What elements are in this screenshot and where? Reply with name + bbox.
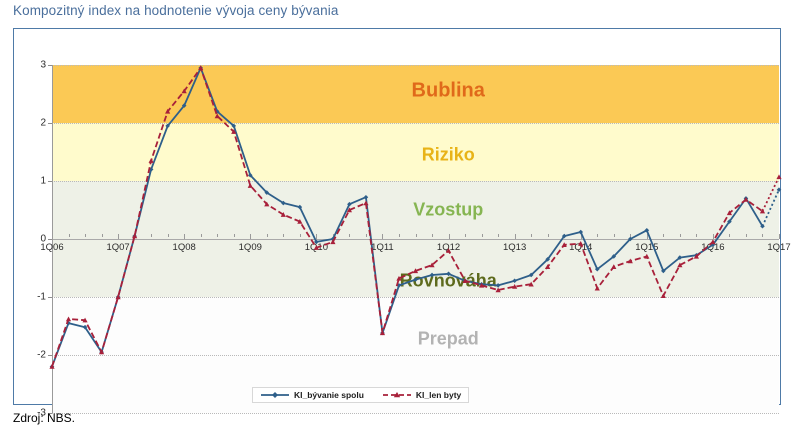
series-marker xyxy=(248,183,253,188)
series-marker xyxy=(446,248,451,253)
gridline--3 xyxy=(52,413,779,414)
legend-item-1[interactable]: KI_bývanie spolu xyxy=(260,390,364,400)
y-tick-label: 2 xyxy=(40,118,46,129)
y-tick-label: 3 xyxy=(40,60,46,71)
series-marker xyxy=(743,197,748,202)
series-marker xyxy=(149,158,154,163)
series-marker xyxy=(430,273,435,278)
legend-swatch-2 xyxy=(382,390,412,400)
series-marker xyxy=(66,316,71,321)
y-tick-label: -1 xyxy=(37,292,46,303)
source-note: Zdroj: NBS. xyxy=(13,411,75,425)
legend-label-1: KI_bývanie spolu xyxy=(294,390,364,400)
series-marker xyxy=(776,174,781,179)
series-line-1 xyxy=(52,68,763,367)
series-marker xyxy=(611,264,616,269)
chart-page: Kompozitný index na hodnotenie vývoja ce… xyxy=(0,0,800,435)
chart-legend: KI_bývanie spoluKI_len byty xyxy=(252,387,469,403)
series-marker xyxy=(496,283,501,288)
legend-swatch-1 xyxy=(260,390,290,400)
series-line-2 xyxy=(52,68,763,367)
x-tick-mark xyxy=(779,234,780,239)
series-marker xyxy=(363,200,368,205)
series-marker xyxy=(595,286,600,291)
plot-area: 3210-1-2-3 1Q061Q071Q081Q091Q101Q111Q121… xyxy=(52,65,779,413)
chart-frame: 3210-1-2-3 1Q061Q071Q081Q091Q101Q111Q121… xyxy=(13,28,781,405)
y-tick-label: 1 xyxy=(40,176,46,187)
series-forecast-segment-2 xyxy=(763,177,780,211)
series-marker xyxy=(512,278,517,283)
page-title: Kompozitný index na hodnotenie vývoja ce… xyxy=(13,3,338,18)
series-layer xyxy=(52,65,779,413)
legend-label-2: KI_len byty xyxy=(416,390,461,400)
series-marker xyxy=(364,195,369,200)
legend-item-2[interactable]: KI_len byty xyxy=(382,390,461,400)
y-tick-label: -2 xyxy=(37,350,46,361)
series-marker xyxy=(413,277,418,282)
